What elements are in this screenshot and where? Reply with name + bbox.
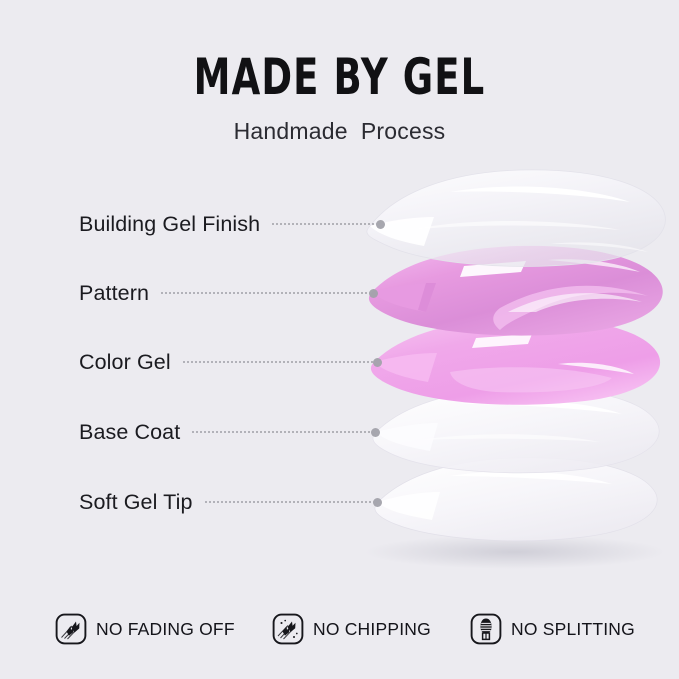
layer-building-gel-finish (367, 170, 666, 267)
layer-label-text: Soft Gel Tip (79, 487, 193, 517)
layer-label-base-coat: Base Coat (79, 417, 376, 447)
nail-file-icon (470, 613, 502, 645)
feature-label: NO SPLITTING (511, 619, 635, 639)
leader-line (204, 501, 378, 503)
feature-badge-row: NO FADING OFF NO CHIPPING (0, 605, 679, 655)
feature-no-fading-off: NO FADING OFF (55, 605, 235, 653)
layer-label-building-gel-finish: Building Gel Finish (79, 209, 381, 239)
nail-streak-icon (55, 613, 87, 645)
leader-line (271, 223, 381, 225)
layer-label-pattern: Pattern (79, 278, 374, 308)
leader-line (182, 361, 378, 363)
layer-label-text: Building Gel Finish (79, 209, 260, 239)
layer-label-soft-gel-tip: Soft Gel Tip (79, 487, 378, 517)
layer-label-text: Color Gel (79, 347, 171, 377)
feature-no-chipping: NO CHIPPING (272, 605, 431, 653)
feature-label: NO CHIPPING (313, 619, 431, 639)
layer-label-text: Pattern (79, 278, 149, 308)
nail-sparkle-icon (272, 613, 304, 645)
layer-label-text: Base Coat (79, 417, 180, 447)
page-title: MADE BY GEL (88, 50, 590, 104)
feature-label: NO FADING OFF (96, 619, 235, 639)
layer-label-color-gel: Color Gel (79, 347, 378, 377)
feature-no-splitting: NO SPLITTING (470, 605, 635, 653)
leader-line (191, 431, 376, 433)
leader-line (160, 292, 374, 294)
infographic-canvas: MADE BY GEL Handmade Process (0, 0, 679, 679)
